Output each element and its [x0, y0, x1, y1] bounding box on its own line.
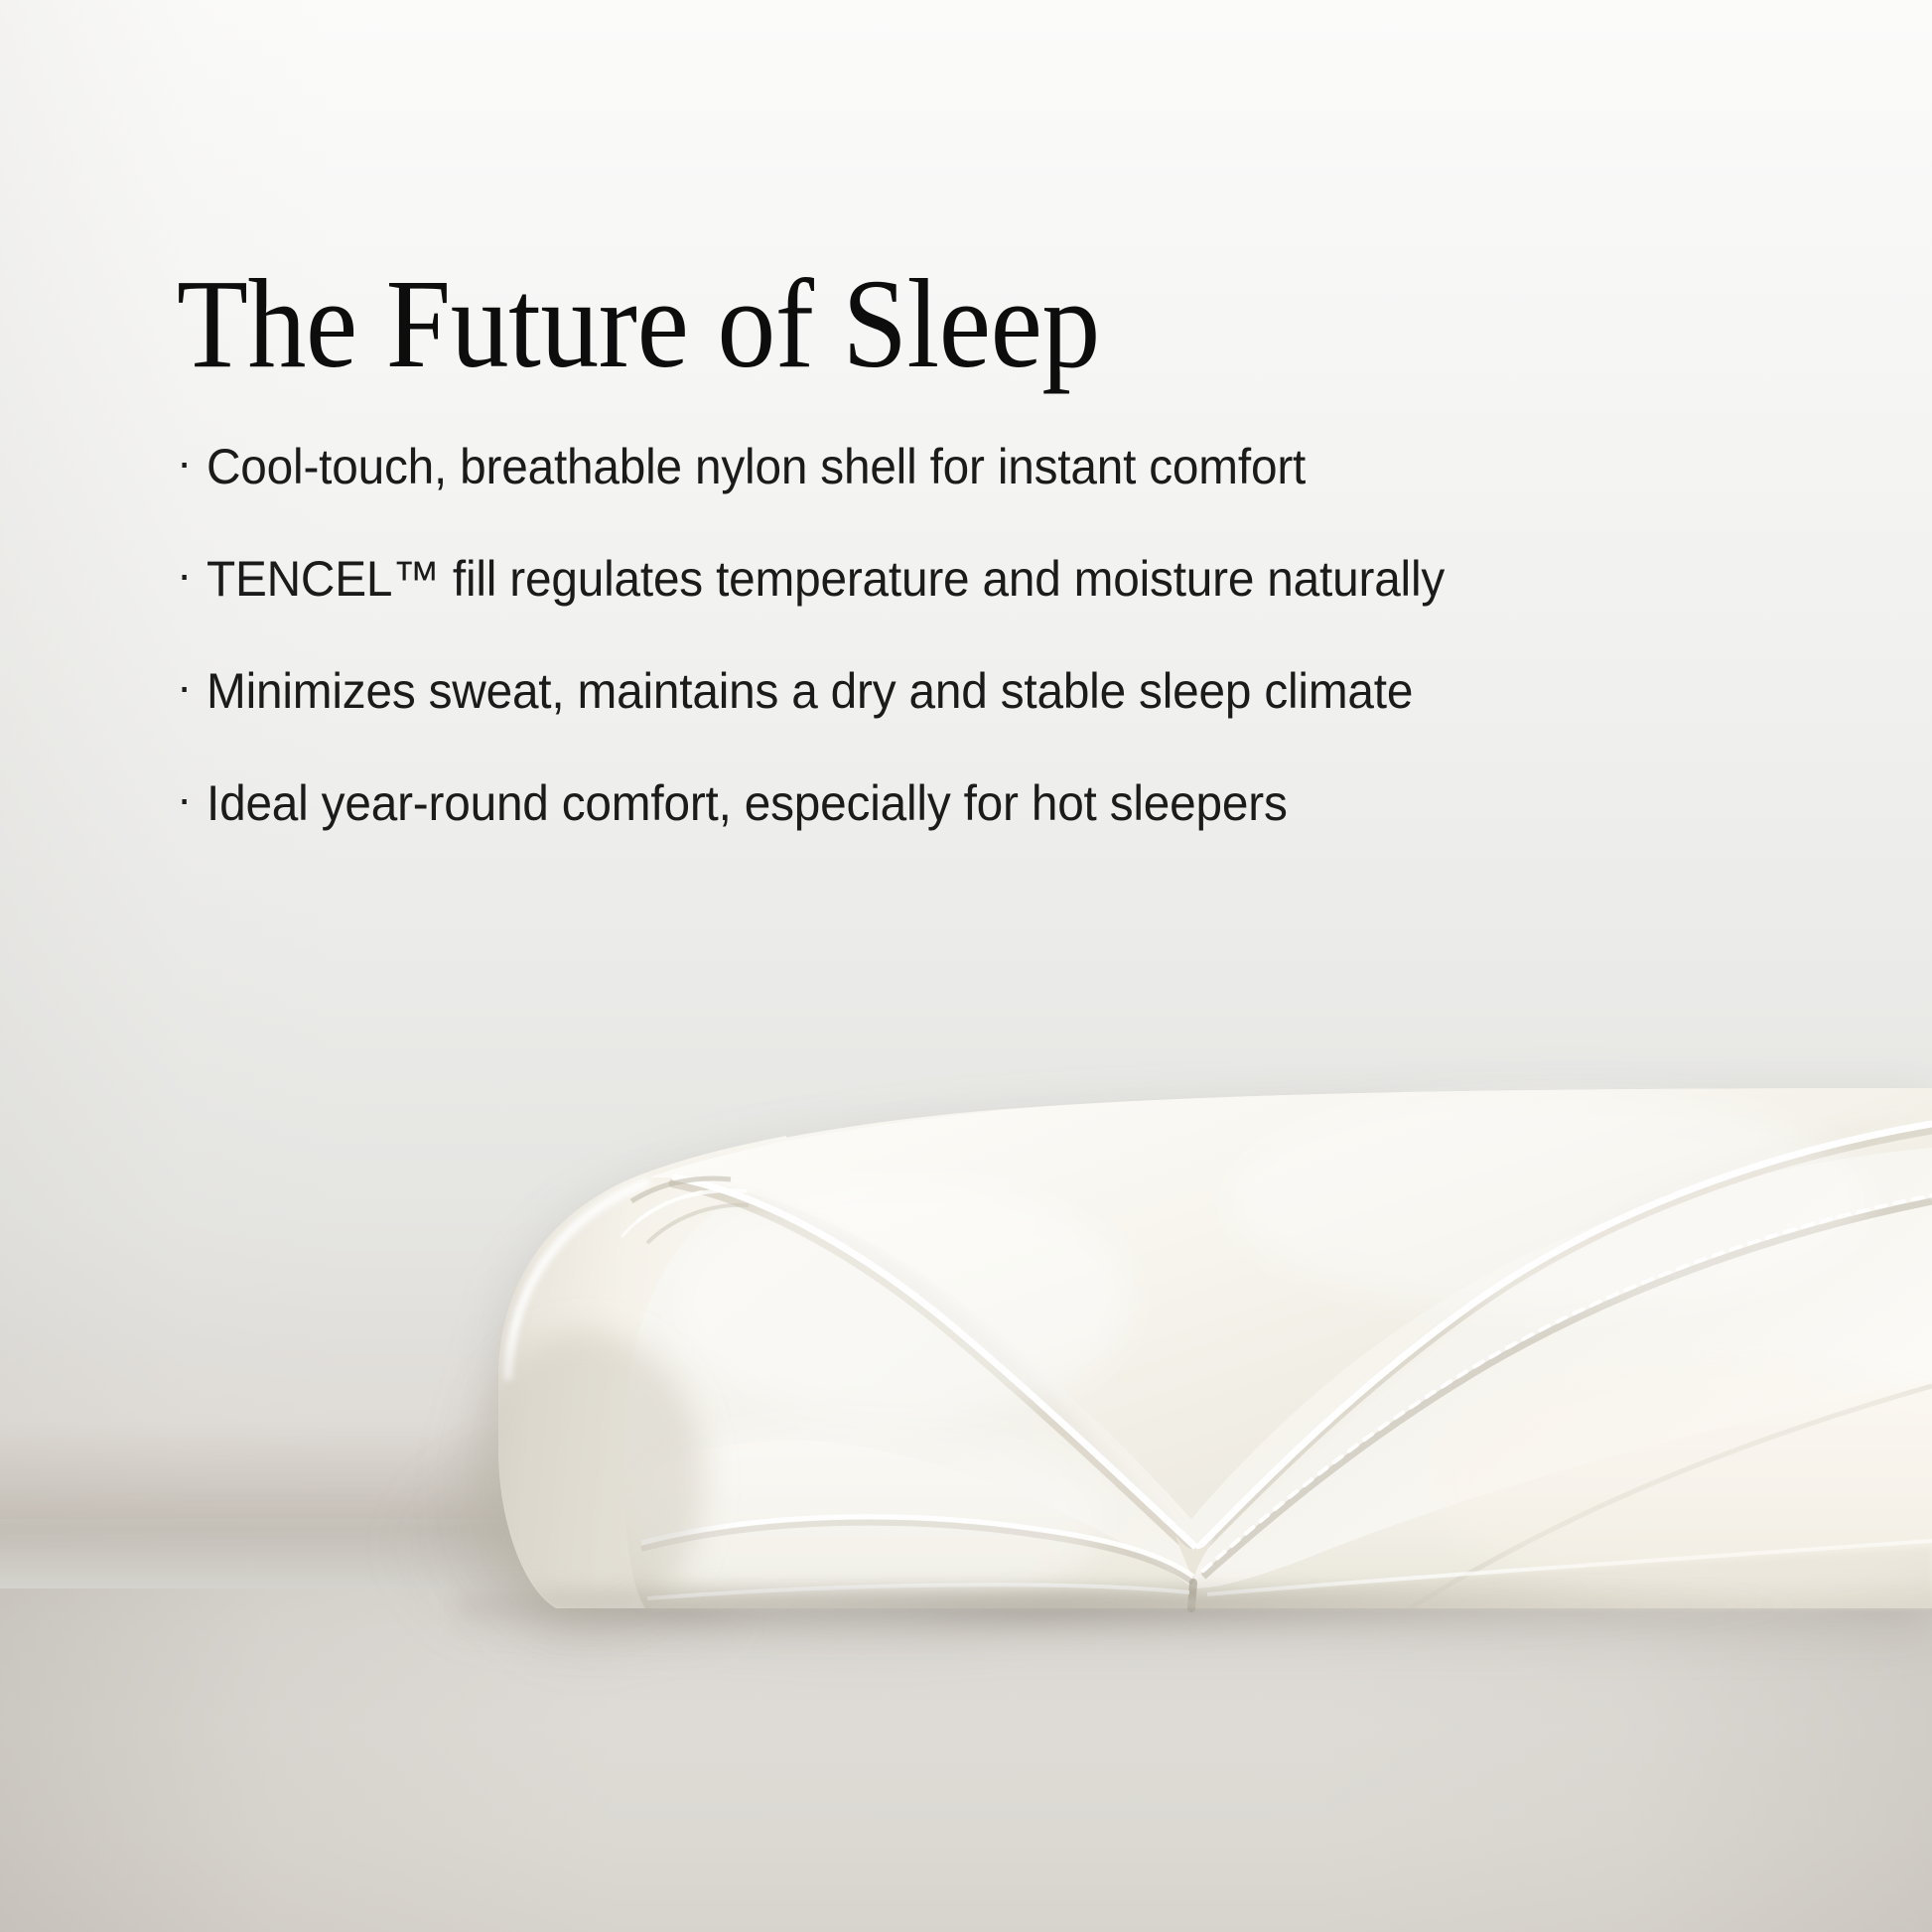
list-item-label: Ideal year-round comfort, especially for… — [207, 775, 1288, 832]
list-item-label: Cool-touch, breathable nylon shell for i… — [207, 439, 1306, 495]
feature-bullet-list: · Cool-touch, breathable nylon shell for… — [177, 439, 1805, 832]
shade-left-end — [467, 1330, 705, 1628]
sheen-upper-left — [675, 1181, 1132, 1420]
list-item: · Ideal year-round comfort, especially f… — [177, 775, 1805, 832]
page-title: The Future of Sleep — [177, 260, 1100, 387]
list-item: · Cool-touch, breathable nylon shell for… — [177, 439, 1805, 495]
promo-image-canvas: The Future of Sleep · Cool-touch, breath… — [0, 0, 1932, 1932]
product-image-folded-comforter — [437, 1052, 1932, 1668]
sheen-upper-right — [1231, 1092, 1866, 1311]
list-item-label: TENCEL™ fill regulates temperature and m… — [207, 551, 1445, 608]
comforter-illustration — [437, 1052, 1932, 1668]
list-item: · Minimizes sweat, maintains a dry and s… — [177, 663, 1805, 720]
bullet-dot-icon: · — [177, 439, 207, 484]
list-item: · TENCEL™ fill regulates temperature and… — [177, 551, 1805, 608]
bullet-dot-icon: · — [177, 551, 207, 597]
product-contact-shadow — [457, 1587, 1932, 1672]
list-item-label: Minimizes sweat, maintains a dry and sta… — [207, 663, 1413, 720]
bullet-dot-icon: · — [177, 775, 207, 821]
bullet-dot-icon: · — [177, 663, 207, 709]
